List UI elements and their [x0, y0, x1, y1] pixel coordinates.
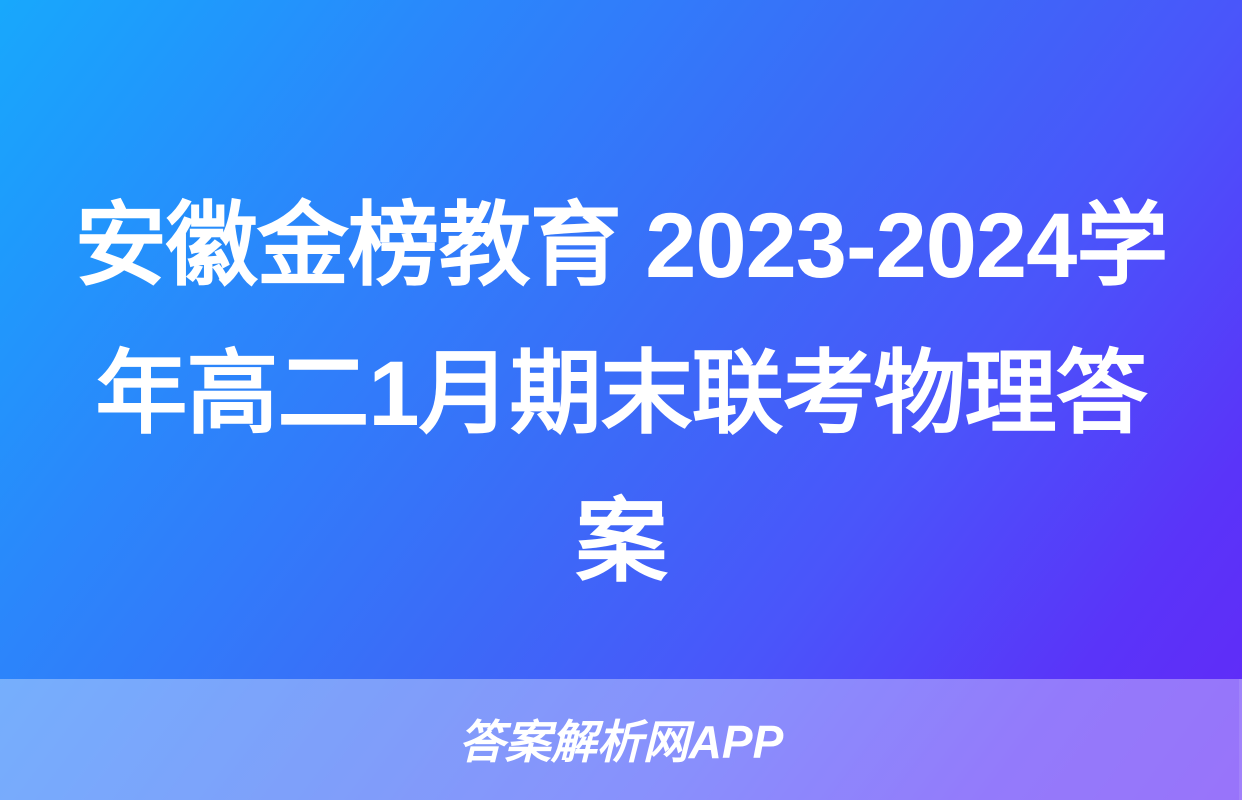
title-block: 安徽金榜教育 2023-2024学年高二1月期末联考物理答案 — [0, 172, 1242, 616]
footer-brand-label: 答案解析网APP — [459, 719, 784, 765]
page-title: 安徽金榜教育 2023-2024学年高二1月期末联考物理答案 — [72, 172, 1170, 616]
title-card: 安徽金榜教育 2023-2024学年高二1月期末联考物理答案 答案解析网APP — [0, 0, 1242, 800]
footer-brand-band: 答案解析网APP — [0, 679, 1242, 800]
